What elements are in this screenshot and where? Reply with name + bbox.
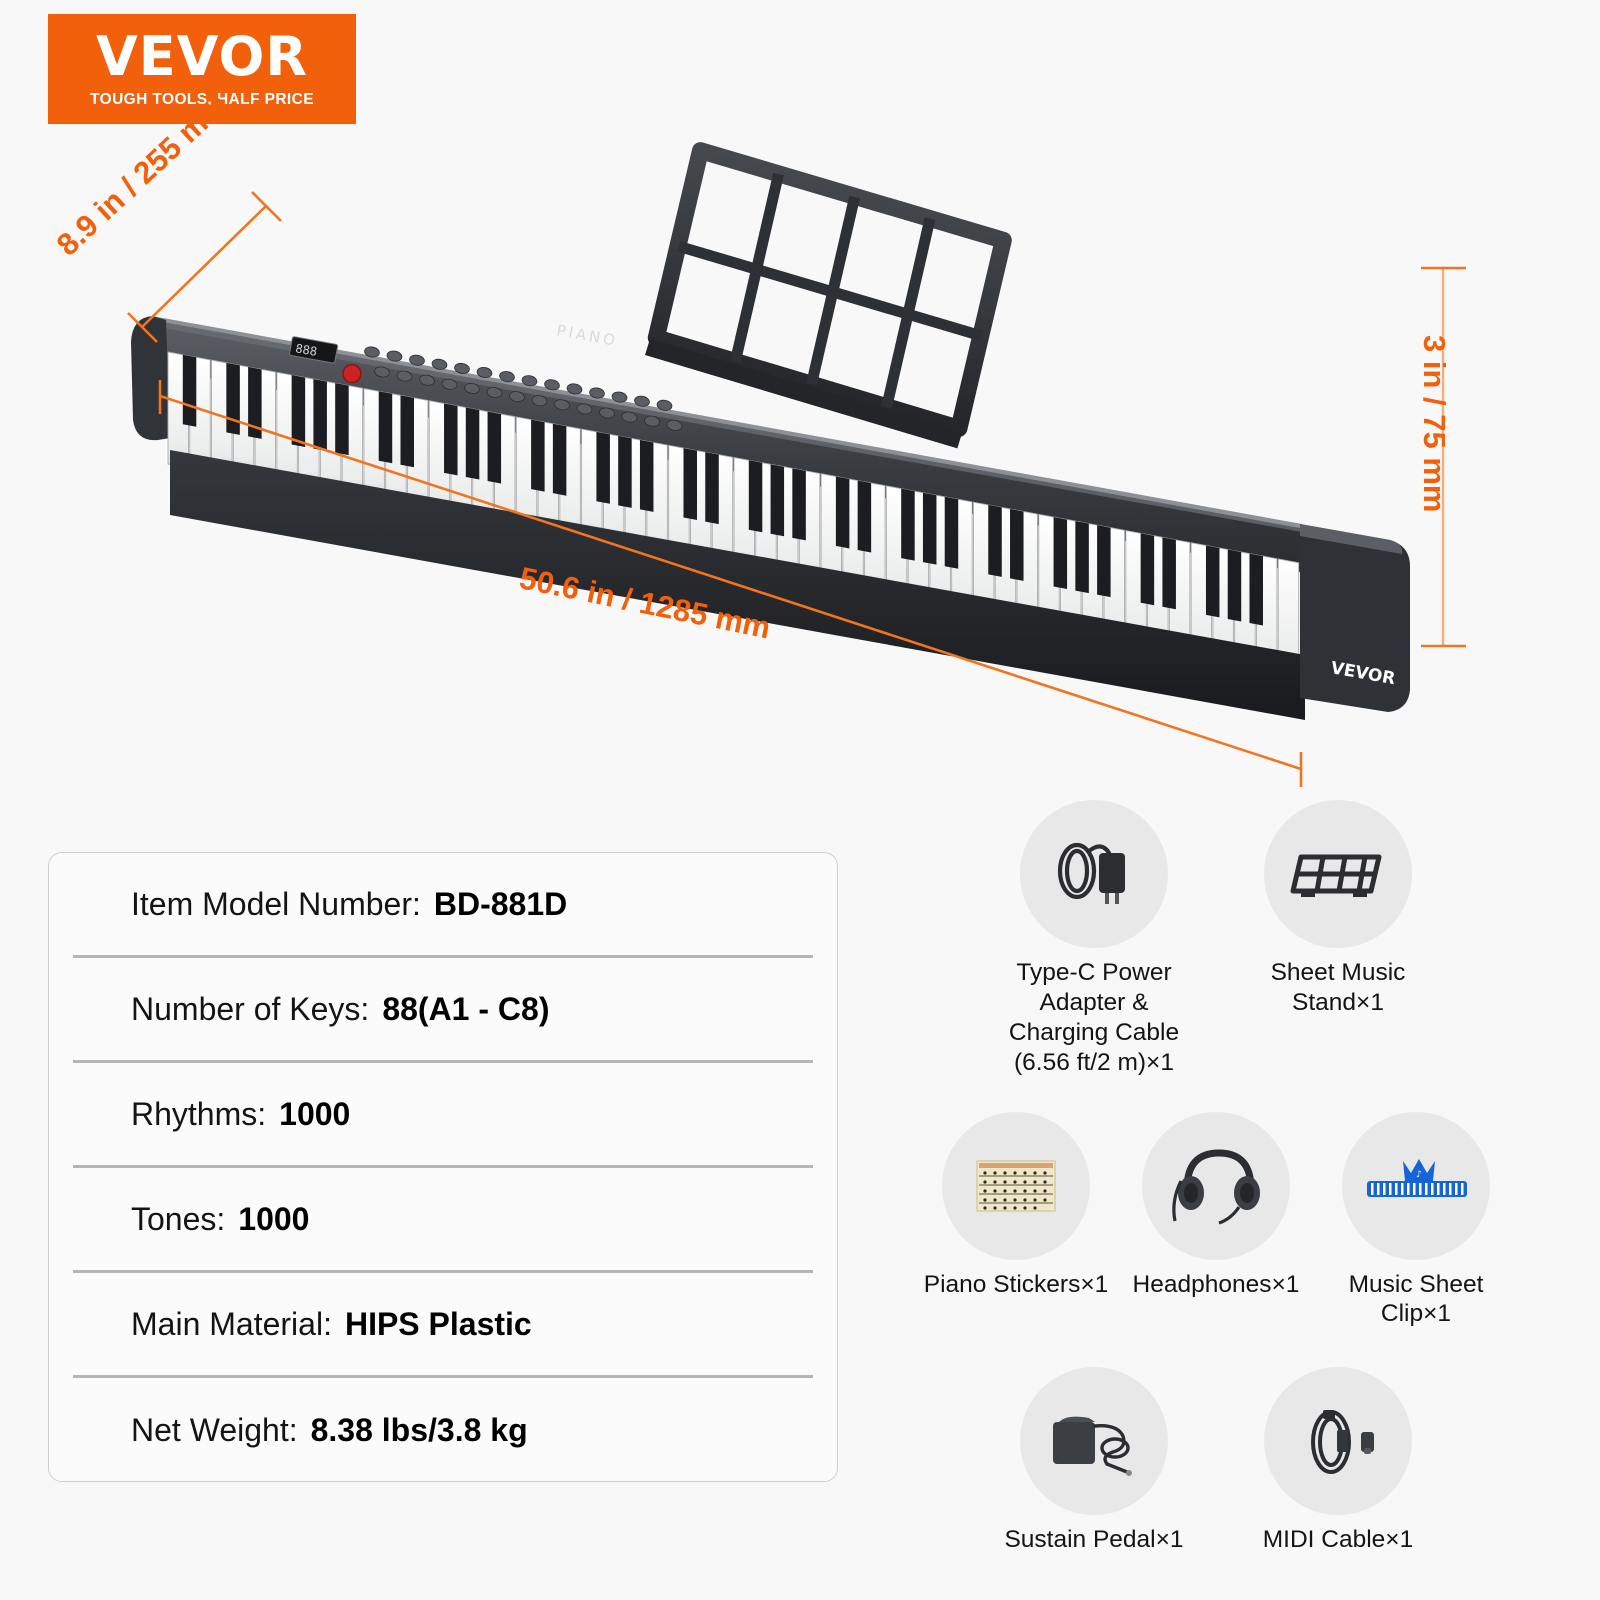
accessory-row: Sustain Pedal×1 MIDI Cable×1 <box>880 1367 1552 1555</box>
black-key <box>313 379 326 451</box>
spec-value: 1000 <box>238 1201 309 1238</box>
black-key <box>988 505 1001 577</box>
black-key <box>400 395 413 467</box>
black-key <box>1097 525 1110 597</box>
black-key <box>292 375 305 447</box>
accessory-item: ♪ Music Sheet Clip×1 <box>1316 1112 1516 1330</box>
specifications-card: Item Model Number: BD-881D Number of Key… <box>48 852 838 1482</box>
spec-key: Item Model Number: <box>131 886 421 923</box>
power-adapter-icon <box>1020 800 1168 948</box>
black-key <box>618 436 631 508</box>
black-key <box>640 440 653 512</box>
spec-value: HIPS Plastic <box>345 1306 532 1343</box>
sheet-music-stand <box>639 147 1010 449</box>
accessory-caption: Piano Stickers×1 <box>914 1270 1119 1300</box>
black-key <box>1075 521 1088 593</box>
accessory-row: Type-C Power Adapter & Charging Cable (6… <box>880 800 1552 1078</box>
accessory-caption: Sheet Music Stand×1 <box>1236 958 1441 1018</box>
product-image: VEVOR 888 PIANO <box>0 120 1600 820</box>
black-key <box>1206 545 1219 617</box>
piano-stickers-icon <box>942 1112 1090 1260</box>
accessories-grid: Type-C Power Adapter & Charging Cable (6… <box>880 800 1552 1555</box>
black-key <box>1010 509 1023 581</box>
product-label: PIANO <box>555 321 619 350</box>
black-key <box>1162 537 1175 609</box>
black-key <box>226 363 239 435</box>
black-key <box>1054 517 1067 589</box>
black-key <box>923 493 936 565</box>
spec-key: Number of Keys: <box>131 991 369 1028</box>
black-key <box>488 412 501 484</box>
accessory-caption: Music Sheet Clip×1 <box>1314 1270 1519 1330</box>
spec-value: BD-881D <box>434 886 567 923</box>
accessory-row: Piano Stickers×1 Headphones×1 <box>880 1112 1552 1330</box>
sheet-music-stand-icon <box>1264 800 1412 948</box>
spec-row: Item Model Number: BD-881D <box>73 853 813 958</box>
spec-key: Main Material: <box>131 1306 332 1343</box>
accessory-item: Type-C Power Adapter & Charging Cable (6… <box>994 800 1194 1078</box>
black-key <box>836 476 849 548</box>
accessory-caption: Type-C Power Adapter & Charging Cable (6… <box>992 958 1197 1078</box>
black-key <box>1249 554 1262 626</box>
height-dimension-label: 3 in / 75 mm <box>1416 335 1452 512</box>
black-key <box>248 367 261 439</box>
accessory-item: MIDI Cable×1 <box>1238 1367 1438 1555</box>
black-key <box>379 391 392 463</box>
spec-key: Net Weight: <box>131 1412 298 1449</box>
black-key <box>1141 533 1154 605</box>
spec-row: Net Weight: 8.38 lbs/3.8 kg <box>73 1378 813 1483</box>
svg-text:♪: ♪ <box>1416 1170 1422 1180</box>
black-key <box>553 424 566 496</box>
spec-key: Rhythms: <box>131 1096 266 1133</box>
black-key <box>683 448 696 520</box>
music-sheet-clip-icon: ♪ <box>1342 1112 1490 1260</box>
black-key <box>531 420 544 492</box>
black-key <box>1228 550 1241 622</box>
accessory-item: Piano Stickers×1 <box>916 1112 1116 1330</box>
accessory-caption: MIDI Cable×1 <box>1236 1525 1441 1555</box>
spec-row: Number of Keys: 88(A1 - C8) <box>73 958 813 1063</box>
sustain-pedal-icon <box>1020 1367 1168 1515</box>
spec-row: Main Material: HIPS Plastic <box>73 1273 813 1378</box>
spec-value: 8.38 lbs/3.8 kg <box>311 1412 528 1449</box>
black-key <box>466 408 479 480</box>
accessory-caption: Headphones×1 <box>1114 1270 1319 1300</box>
black-key <box>901 489 914 561</box>
black-key <box>749 460 762 532</box>
black-key <box>792 468 805 540</box>
black-key <box>444 403 457 475</box>
accessory-caption: Sustain Pedal×1 <box>992 1525 1197 1555</box>
accessory-item: Sheet Music Stand×1 <box>1238 800 1438 1078</box>
headphones-icon <box>1142 1112 1290 1260</box>
accessory-item: Headphones×1 <box>1116 1112 1316 1330</box>
spec-value: 1000 <box>279 1096 350 1133</box>
spec-row: Rhythms: 1000 <box>73 1063 813 1168</box>
spec-row: Tones: 1000 <box>73 1168 813 1273</box>
piano-left-endcap <box>131 316 170 440</box>
black-key <box>596 432 609 504</box>
spec-key: Tones: <box>131 1201 225 1238</box>
midi-cable-icon <box>1264 1367 1412 1515</box>
black-key <box>945 497 958 569</box>
black-key <box>771 464 784 536</box>
black-key <box>335 383 348 455</box>
black-key <box>183 355 196 427</box>
black-key <box>858 481 871 553</box>
spec-value: 88(A1 - C8) <box>382 991 549 1028</box>
brand-wordmark: VEVOR <box>96 30 308 84</box>
black-key <box>705 452 718 524</box>
accessory-item: Sustain Pedal×1 <box>994 1367 1194 1555</box>
